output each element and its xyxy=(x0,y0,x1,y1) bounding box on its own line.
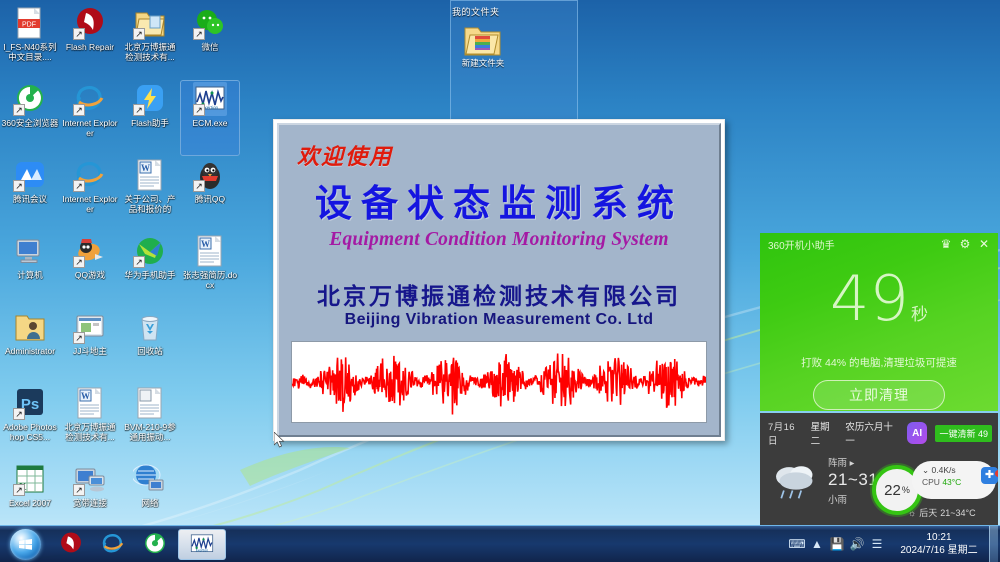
desktop-item-label: Adobe Photoshop CS5... xyxy=(1,422,59,442)
shortcut-arrow-icon: ↗ xyxy=(13,484,25,496)
weather-panel-body: 阵雨 ▸ 21~31 小雨 22% ⌄ 0.4K/s CPU 43°C ✚ ☼ … xyxy=(760,447,998,526)
flash-repair-icon: ↗ xyxy=(73,6,107,40)
desktop-item-label: I_FS-N40系列中文目录.... xyxy=(1,42,59,62)
notification-dot xyxy=(995,470,998,477)
waveform-svg xyxy=(292,342,706,422)
desktop-item-document-icon[interactable]: BVM-210-9参通用振动... xyxy=(120,384,180,460)
broadband-connection-icon: ↗ xyxy=(73,462,107,496)
folder-icon xyxy=(463,22,503,58)
cpu-temp-value: 43°C xyxy=(942,477,961,487)
desktop-item-word-document-icon[interactable]: W张志强简历.docx xyxy=(180,232,240,308)
cpu-temp-row: CPU 43°C xyxy=(922,476,990,488)
safely-remove-icon[interactable]: 💾 xyxy=(827,531,847,557)
desktop-item-internet-explorer-icon[interactable]: ↗Internet Explorer xyxy=(60,80,120,156)
desktop-item-qq-penguin-icon[interactable]: ↗腾讯QQ xyxy=(180,156,240,232)
tomorrow-forecast: ☼ 后天 21~34°C xyxy=(908,506,976,519)
desktop-item-label: 北京万博振通检测技术有... xyxy=(61,422,119,442)
desktop-item-label: 网络 xyxy=(121,498,179,508)
desktop-item-label: 新建文件夹 xyxy=(462,58,505,68)
company-name-english: Beijing Vibration Measurement Co. Ltd xyxy=(279,311,719,329)
browser-360-taskbar[interactable] xyxy=(136,529,174,560)
shortcut-arrow-icon: ↗ xyxy=(73,484,85,496)
desktop-item-label: 微信 xyxy=(181,42,239,52)
desktop-item-qq-game-icon[interactable]: ↗QQ游戏 xyxy=(60,232,120,308)
desktop-item-tencent-meeting-icon[interactable]: ↗腾讯会议 xyxy=(0,156,60,232)
desktop-item-label: Flash Repair xyxy=(61,42,119,52)
boot-seconds-unit: 秒 xyxy=(911,305,928,325)
taskbar-items: exertion xyxy=(48,529,226,560)
boot-assistant-title: 360开机小助手 xyxy=(768,237,935,252)
shortcut-arrow-icon: ↗ xyxy=(193,104,205,116)
network-speed-row: ⌄ 0.4K/s xyxy=(922,464,990,476)
show-desktop-button[interactable] xyxy=(989,526,998,562)
boot-assistant-titlebar: 360开机小助手 ♛ ⚙ ✕ xyxy=(760,233,998,255)
boot-assistant-widget[interactable]: 360开机小助手 ♛ ⚙ ✕ 49秒 打败 44% 的电脑,清理垃圾可提速 立即… xyxy=(760,233,998,411)
word-document-icon: W xyxy=(133,158,167,192)
desktop-item-label: Internet Explorer xyxy=(61,118,119,138)
desktop-item-label: Flash助手 xyxy=(121,118,179,128)
folder-tooltip: 我的文件夹 xyxy=(452,5,500,18)
browser-360-icon xyxy=(142,531,168,557)
word-document-icon: W xyxy=(193,234,227,268)
cpu-usage-unit: % xyxy=(902,485,910,495)
weather-lunar: 农历六月十一 xyxy=(845,419,899,447)
flash-repair-icon xyxy=(58,531,84,557)
desktop-item-computer-icon[interactable]: 计算机 xyxy=(0,232,60,308)
desktop-item-label: Administrator xyxy=(1,346,59,356)
desktop-item-huawei-assistant-icon[interactable]: ↗华为手机助手 xyxy=(120,232,180,308)
system-title-chinese: 设备状态监测系统 xyxy=(279,173,719,227)
network-speed-value: 0.4K/s xyxy=(932,465,956,475)
desktop-item-jj-landlord-icon[interactable]: ↗JJ斗地主 xyxy=(60,308,120,384)
huawei-assistant-icon: ↗ xyxy=(133,234,167,268)
splash-window[interactable]: 欢迎使用 设备状态监测系统 Equipment Condition Monito… xyxy=(273,119,725,441)
keyboard-ime-icon[interactable]: ⌨ xyxy=(787,531,807,557)
desktop-item-word-document-icon[interactable]: W关于公司、产品和报价的介... xyxy=(120,156,180,232)
weather-text-block: 阵雨 ▸ 21~31 小雨 xyxy=(828,455,878,526)
weather-stats-panel[interactable]: 7月16日 星期二 农历六月十一 AI 一键清新 49 阵雨 ▸ 21~31 小… xyxy=(760,413,998,526)
tomorrow-label: 后天 xyxy=(919,506,937,519)
boot-seconds-display: 49秒 xyxy=(760,269,998,345)
qq-game-icon: ↗ xyxy=(73,234,107,268)
desktop-item-label: 腾讯QQ xyxy=(181,194,239,204)
weather-condition: 小雨 xyxy=(828,492,878,506)
desktop-item-label: Excel 2007 xyxy=(1,498,59,508)
desktop-item-recycle-bin-icon[interactable]: 回收站 xyxy=(120,308,180,384)
desktop-item-user-folder-icon[interactable]: Administrator xyxy=(0,308,60,384)
shortcut-arrow-icon: ↗ xyxy=(193,28,205,40)
internet-explorer-taskbar[interactable] xyxy=(94,529,132,560)
internet-explorer-icon: ↗ xyxy=(73,82,107,116)
shortcut-arrow-icon: ↗ xyxy=(13,408,25,420)
system-stats-pill[interactable]: ⌄ 0.4K/s CPU 43°C ✚ xyxy=(912,461,996,499)
boot-seconds-value: 49 xyxy=(830,262,909,335)
shortcut-arrow-icon: ↗ xyxy=(73,256,85,268)
shortcut-arrow-icon: ↗ xyxy=(133,104,145,116)
chevron-down-icon: ⌄ xyxy=(922,465,929,475)
windows-logo-icon xyxy=(10,529,41,560)
weather-date: 7月16日 xyxy=(768,419,803,447)
svg-text:exertion: exertion xyxy=(196,549,208,553)
flash-repair-taskbar[interactable] xyxy=(52,529,90,560)
shortcut-arrow-icon: ↗ xyxy=(133,28,145,40)
desktop-item-flash-assistant-icon[interactable]: ↗Flash助手 xyxy=(120,80,180,156)
folder-icon: ↗ xyxy=(133,6,167,40)
document-icon xyxy=(133,386,167,420)
ecm-waveform-icon: exertion↗ xyxy=(193,82,227,116)
flash-assistant-icon: ↗ xyxy=(133,82,167,116)
taskbar-clock[interactable]: 10:21 2024/7/16 星期二 xyxy=(893,531,985,557)
ecm-waveform-icon: exertion xyxy=(189,531,215,557)
one-click-clean-badge[interactable]: 一键清新 49 xyxy=(935,425,992,442)
network-signal-icon[interactable]: ☰ xyxy=(867,531,887,557)
desktop-item-word-document-icon[interactable]: W北京万博振通检测技术有... xyxy=(60,384,120,460)
shortcut-arrow-icon: ↗ xyxy=(13,104,25,116)
taskbar: exertion ⌨ ▲ 💾 🔊 ☰ 10:21 2024/7/16 星期二 xyxy=(0,525,1000,562)
close-icon[interactable]: ✕ xyxy=(976,236,992,252)
desktop-item-ecm-waveform-icon[interactable]: exertion↗ECM.exe xyxy=(180,80,240,156)
desktop-item-flash-repair-icon[interactable]: ↗Flash Repair xyxy=(60,4,120,80)
shortcut-arrow-icon: ↗ xyxy=(133,256,145,268)
cpu-usage-value: 22 xyxy=(884,482,901,499)
system-tray: ⌨ ▲ 💾 🔊 ☰ 10:21 2024/7/16 星期二 xyxy=(787,526,1000,562)
desktop-item-label: BVM-210-9参通用振动... xyxy=(121,422,179,442)
computer-icon xyxy=(13,234,47,268)
rain-cloud-icon xyxy=(770,457,822,505)
sun-icon: ☼ xyxy=(908,508,916,518)
desktop-item-label: ECM.exe xyxy=(181,118,239,128)
shortcut-arrow-icon: ↗ xyxy=(73,104,85,116)
desktop-item-new-folder[interactable]: 新建文件夹 xyxy=(452,22,514,68)
desktop-item-label: 宽带连接 xyxy=(61,498,119,508)
desktop-item-wechat-icon[interactable]: ↗微信 xyxy=(180,4,240,80)
weather-panel-header: 7月16日 星期二 农历六月十一 AI 一键清新 49 xyxy=(760,413,998,447)
desktop-item-label: 腾讯会议 xyxy=(1,194,59,204)
internet-explorer-icon: ↗ xyxy=(73,158,107,192)
splash-window-content: 欢迎使用 设备状态监测系统 Equipment Condition Monito… xyxy=(277,123,721,437)
tencent-meeting-icon: ↗ xyxy=(13,158,47,192)
desktop-item-label: 华为手机助手 xyxy=(121,270,179,280)
desktop-item-label: Internet Explorer xyxy=(61,194,119,214)
desktop-item-label: 张志强简历.docx xyxy=(181,270,239,290)
network-icon xyxy=(133,462,167,496)
volume-icon[interactable]: 🔊 xyxy=(847,531,867,557)
svg-text:W: W xyxy=(201,239,210,249)
desktop-item-label: QQ游戏 xyxy=(61,270,119,280)
photoshop-icon: Ps↗ xyxy=(13,386,47,420)
excel-icon: X↗ xyxy=(13,462,47,496)
shortcut-arrow-icon: ↗ xyxy=(73,28,85,40)
clean-now-button[interactable]: 立即清理 xyxy=(813,380,945,410)
svg-text:PDF: PDF xyxy=(22,22,36,29)
recycle-bin-icon xyxy=(133,310,167,344)
word-document-icon: W xyxy=(73,386,107,420)
wechat-icon: ↗ xyxy=(193,6,227,40)
weather-weekday: 星期二 xyxy=(811,419,838,447)
user-folder-icon xyxy=(13,310,47,344)
desktop-item-folder-icon[interactable]: ↗北京万博振通检测技术有... xyxy=(120,4,180,80)
weather-temp-range: 21~31 xyxy=(828,470,878,490)
shield-icon[interactable]: ✚ xyxy=(981,467,998,484)
desktop-item-label: JJ斗地主 xyxy=(61,346,119,356)
chevron-right-icon: ▸ xyxy=(850,458,855,469)
qq-penguin-icon: ↗ xyxy=(193,158,227,192)
desktop-item-browser-360-icon[interactable]: ↗360安全浏览器 xyxy=(0,80,60,156)
vibration-waveform-chart xyxy=(291,341,707,423)
clock-date: 2024/7/16 星期二 xyxy=(893,544,985,557)
welcome-text: 欢迎使用 xyxy=(297,139,393,171)
browser-360-icon: ↗ xyxy=(13,82,47,116)
boot-assistant-subtitle: 打败 44% 的电脑,清理垃圾可提速 xyxy=(760,355,998,370)
weather-condition-value: 阵雨 xyxy=(828,458,847,469)
trophy-icon[interactable]: ♛ xyxy=(938,236,954,252)
system-title-english: Equipment Condition Monitoring System xyxy=(279,229,719,251)
start-button[interactable] xyxy=(2,527,48,561)
desktop-item-pdf-document-icon[interactable]: PDFI_FS-N40系列中文目录.... xyxy=(0,4,60,80)
desktop-item-label: 360安全浏览器 xyxy=(1,118,59,128)
tomorrow-temp: 21~34°C xyxy=(940,508,975,518)
svg-text:W: W xyxy=(81,391,90,401)
pdf-document-icon: PDF xyxy=(13,6,47,40)
desktop-icon-grid: PDFI_FS-N40系列中文目录....↗Flash Repair↗北京万博振… xyxy=(0,4,240,524)
desktop-item-internet-explorer-icon[interactable]: ↗Internet Explorer xyxy=(60,156,120,232)
desktop-item-label: 计算机 xyxy=(1,270,59,280)
gear-icon[interactable]: ⚙ xyxy=(957,236,973,252)
shortcut-arrow-icon: ↗ xyxy=(73,332,85,344)
internet-explorer-icon xyxy=(100,531,126,557)
shortcut-arrow-icon: ↗ xyxy=(13,180,25,192)
weather-condition-label: 阵雨 ▸ xyxy=(828,455,878,469)
company-name-chinese: 北京万博振通检测技术有限公司 xyxy=(279,277,719,311)
shortcut-arrow-icon: ↗ xyxy=(73,180,85,192)
clock-time: 10:21 xyxy=(893,531,985,544)
shortcut-arrow-icon: ↗ xyxy=(193,180,205,192)
ecm-taskbar[interactable]: exertion xyxy=(178,529,226,560)
ai-badge[interactable]: AI xyxy=(907,422,928,444)
show-hidden-icons-icon[interactable]: ▲ xyxy=(807,531,827,557)
desktop-item-label: 关于公司、产品和报价的介... xyxy=(121,194,179,214)
cpu-temp-label: CPU xyxy=(922,477,940,487)
desktop-item-label: 回收站 xyxy=(121,346,179,356)
svg-text:W: W xyxy=(141,163,150,173)
desktop-item-photoshop-icon[interactable]: Ps↗Adobe Photoshop CS5... xyxy=(0,384,60,460)
jj-landlord-icon: ↗ xyxy=(73,310,107,344)
desktop-item-label: 北京万博振通检测技术有... xyxy=(121,42,179,62)
